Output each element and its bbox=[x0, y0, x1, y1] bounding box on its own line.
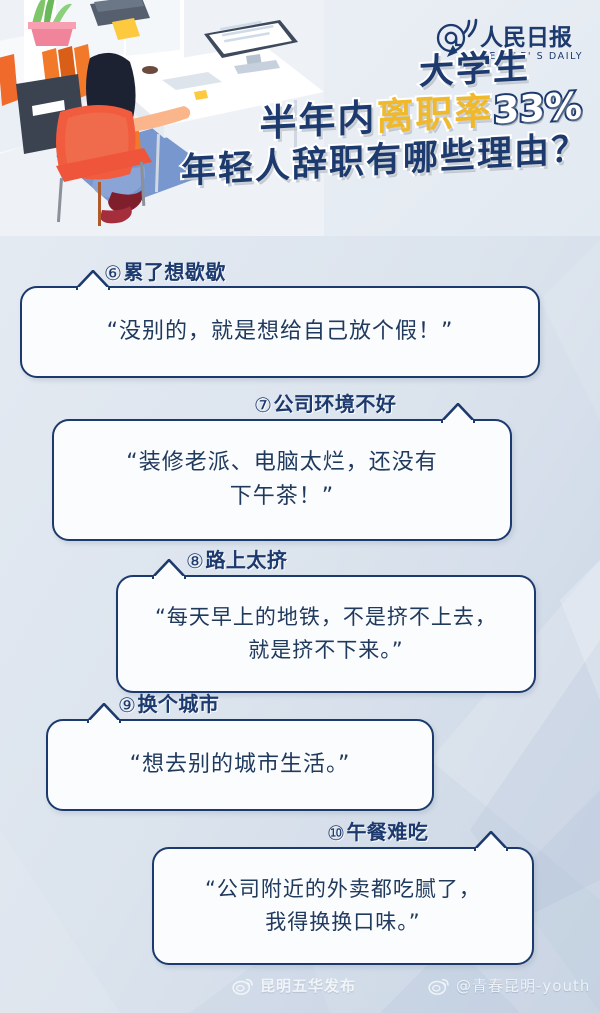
reason-bubble-7: “装修老派、电脑太烂，还没有 下午茶！” bbox=[52, 419, 512, 541]
watermark-right-text: @青春昆明-youth bbox=[456, 975, 590, 996]
reason-bubble-8: “每天早上的地铁，不是挤不上去， 就是挤不下来。” bbox=[116, 575, 536, 693]
reason-bubble-6: “没别的，就是想给自己放个假！” bbox=[20, 286, 540, 378]
reason-quote-7: “装修老派、电脑太烂，还没有 下午茶！” bbox=[112, 446, 451, 514]
reason-number-7: ⑦ bbox=[254, 393, 272, 417]
reason-title-9: 换个城市 bbox=[137, 692, 219, 716]
reason-title-6: 累了想歇歇 bbox=[123, 260, 226, 284]
reason-label-7: ⑦公司环境不好 bbox=[254, 388, 396, 417]
reason-label-9: ⑨换个城市 bbox=[118, 688, 219, 717]
reason-item-8: ⑧路上太挤 “每天早上的地铁，不是挤不上去， 就是挤不下来。” bbox=[0, 544, 600, 694]
footer-watermarks: 昆明五华发布 @青春昆明-youth bbox=[0, 965, 600, 1013]
reason-label-10: ⑩午餐难吃 bbox=[327, 816, 428, 845]
reason-bubble-9: “想去别的城市生活。” bbox=[46, 719, 434, 811]
headline-block: 大学生 半年内离职率33% 年轻人辞职有哪些理由？ bbox=[128, 60, 588, 180]
reason-item-7: ⑦公司环境不好 “装修老派、电脑太烂，还没有 下午茶！” bbox=[0, 388, 600, 540]
quote-line: “公司附近的外卖都吃腻了， bbox=[205, 873, 481, 906]
weibo-icon bbox=[232, 977, 254, 995]
reason-quote-9: “想去别的城市生活。” bbox=[116, 748, 365, 782]
bubble-tail-7 bbox=[441, 403, 475, 422]
reason-title-10: 午餐难吃 bbox=[346, 820, 428, 844]
bubble-tail-9 bbox=[87, 703, 121, 722]
reason-item-10: ⑩午餐难吃 “公司附近的外卖都吃腻了， 我得换换口味。” bbox=[0, 816, 600, 966]
watermark-left: 昆明五华发布 bbox=[232, 975, 356, 996]
weibo-icon bbox=[428, 977, 450, 995]
reason-label-6: ⑥累了想歇歇 bbox=[104, 256, 226, 285]
headline-percent: 33% bbox=[493, 85, 582, 133]
reason-quote-6: “没别的，就是想给自己放个假！” bbox=[93, 315, 468, 349]
infographic-page: 人民日报 PEOPLE' S DAILY 大学生 半年内离职率33% 年轻人辞职… bbox=[0, 0, 600, 1013]
bubble-tail-8 bbox=[152, 559, 186, 578]
watermark-right: @青春昆明-youth bbox=[428, 975, 590, 996]
quote-line: “没别的，就是想给自己放个假！” bbox=[107, 315, 454, 349]
reasons-list: ⑥累了想歇歇 “没别的，就是想给自己放个假！” ⑦公司环境不好 “装修老派、电脑… bbox=[0, 236, 600, 966]
reason-number-10: ⑩ bbox=[327, 821, 345, 845]
header-banner: 人民日报 PEOPLE' S DAILY 大学生 半年内离职率33% 年轻人辞职… bbox=[0, 0, 600, 236]
reason-item-6: ⑥累了想歇歇 “没别的，就是想给自己放个假！” bbox=[0, 256, 600, 382]
reason-bubble-10: “公司附近的外卖都吃腻了， 我得换换口味。” bbox=[152, 847, 534, 965]
reason-quote-10: “公司附近的外卖都吃腻了， 我得换换口味。” bbox=[191, 873, 495, 938]
reason-quote-8: “每天早上的地铁，不是挤不上去， 就是挤不下来。” bbox=[141, 601, 511, 666]
quote-line: 我得换换口味。” bbox=[205, 906, 481, 939]
quote-line: “想去别的城市生活。” bbox=[130, 748, 351, 782]
reason-item-9: ⑨换个城市 “想去别的城市生活。” bbox=[0, 688, 600, 816]
watermark-left-text: 昆明五华发布 bbox=[260, 975, 356, 996]
reason-title-8: 路上太挤 bbox=[205, 548, 287, 572]
reason-label-8: ⑧路上太挤 bbox=[186, 544, 287, 573]
reason-number-8: ⑧ bbox=[186, 549, 204, 573]
quote-line: “装修老派、电脑太烂，还没有 bbox=[126, 446, 437, 480]
bubble-tail-6 bbox=[76, 270, 110, 289]
quote-line: 下午茶！” bbox=[126, 480, 437, 514]
quote-line: 就是挤不下来。” bbox=[155, 634, 497, 667]
headline-line-2a: 半年内 bbox=[259, 96, 376, 146]
reason-title-7: 公司环境不好 bbox=[273, 392, 396, 416]
bubble-tail-10 bbox=[474, 831, 508, 850]
headline-highlight-rate: 离职率 bbox=[376, 90, 493, 140]
quote-line: “每天早上的地铁，不是挤不上去， bbox=[155, 601, 497, 634]
